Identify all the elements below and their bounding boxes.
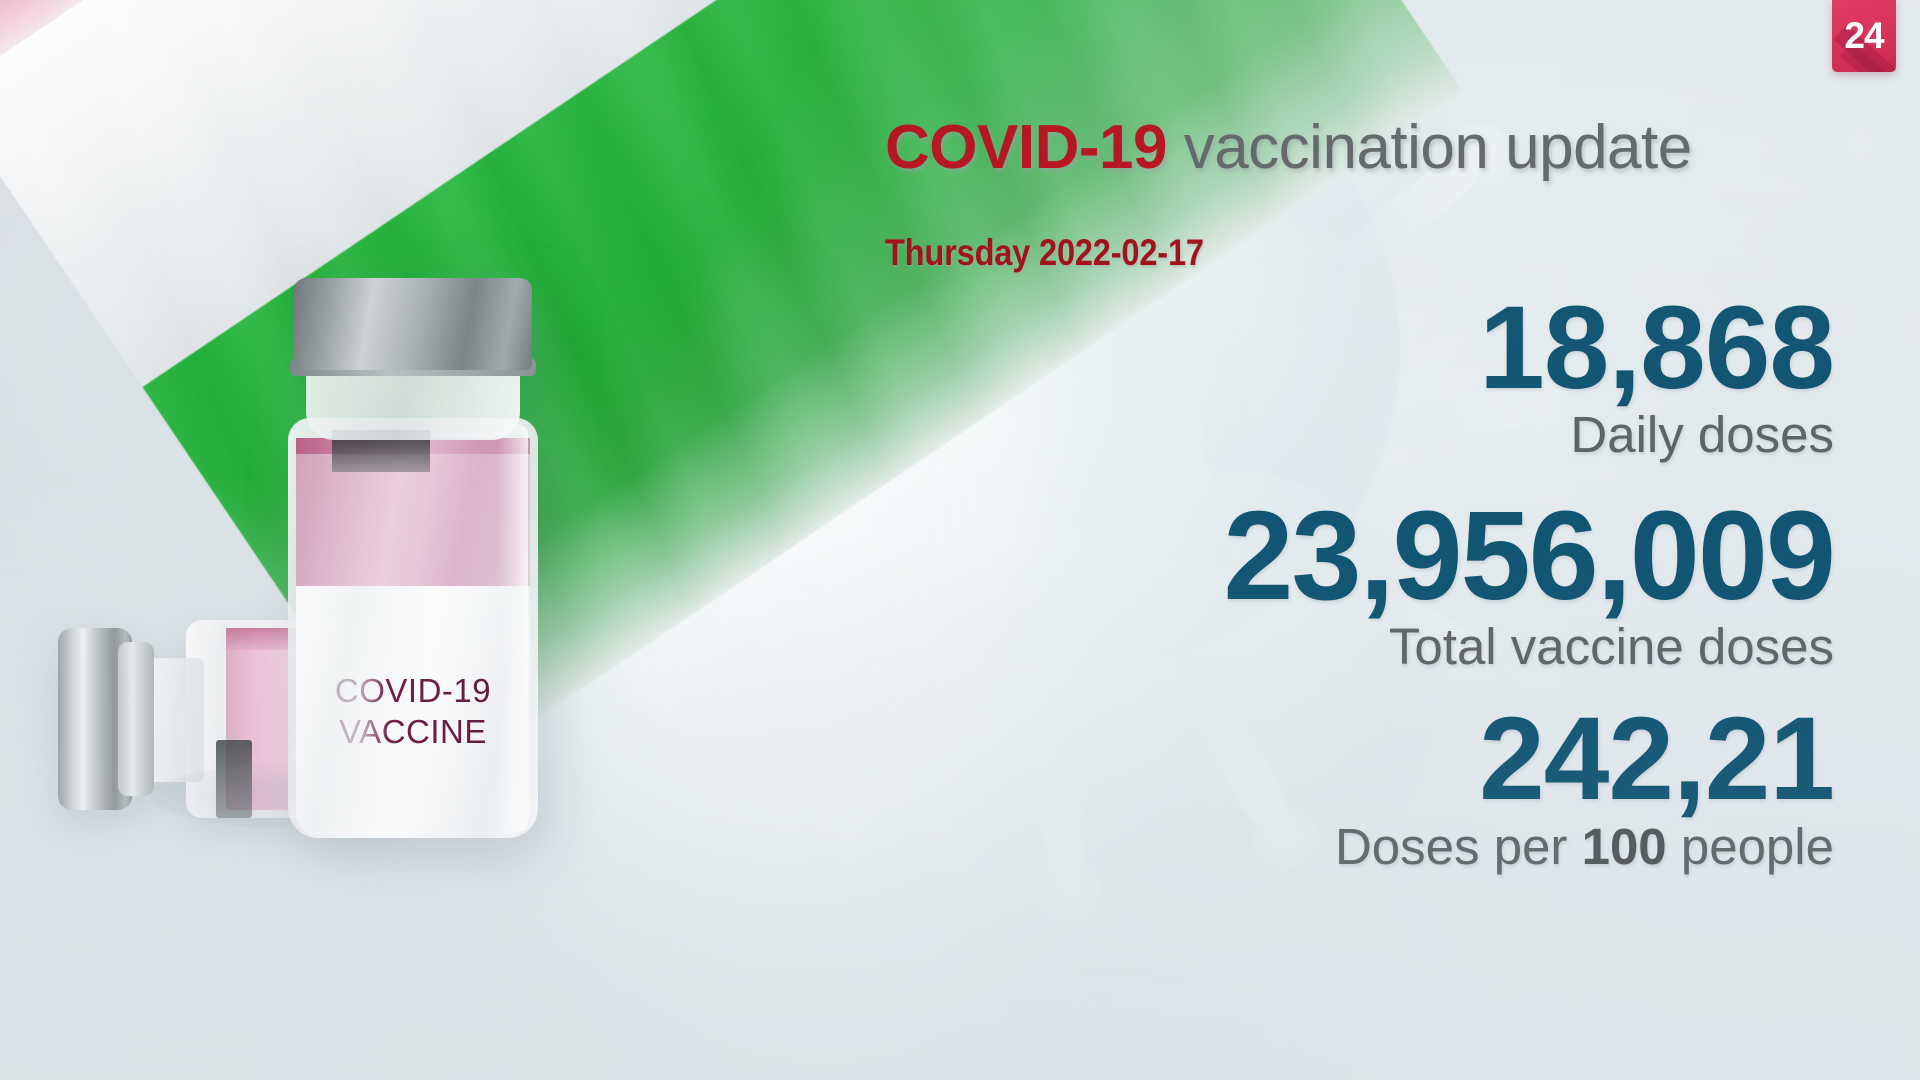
- statistics-panel: 18,868 Daily doses 23,956,009 Total vacc…: [814, 288, 1834, 895]
- page-title-highlight: COVID-19: [885, 113, 1167, 182]
- report-date: Thursday 2022-02-17: [885, 232, 1204, 274]
- stat-value: 242,21: [814, 699, 1834, 819]
- stat-total-doses: 23,956,009 Total vaccine doses: [814, 492, 1834, 678]
- stat-label: Daily doses: [814, 404, 1834, 465]
- stat-value: 23,956,009: [814, 492, 1834, 621]
- page-title-rest: vaccination update: [1167, 113, 1692, 182]
- stat-doses-per-100: 242,21 Doses per 100 people: [814, 699, 1834, 877]
- stat-daily-doses: 18,868 Daily doses: [814, 288, 1834, 466]
- channel-24-logo[interactable]: 24: [1832, 0, 1896, 72]
- page-title: COVID-19 vaccination update: [885, 112, 1692, 183]
- logo-text: 24: [1844, 17, 1883, 56]
- stat-label-suffix: people: [1667, 818, 1834, 875]
- stat-label-prefix: Doses per: [1335, 818, 1582, 875]
- stat-label: Doses per 100 people: [814, 816, 1834, 877]
- stat-value: 18,868: [814, 288, 1834, 408]
- content-layer: COVID-19 vaccination update Thursday 202…: [0, 0, 1920, 1080]
- stat-label-emphasis: 100: [1582, 818, 1667, 875]
- infographic-canvas: COVID-19 VACCINE COVID-19 vaccination up…: [0, 0, 1920, 1080]
